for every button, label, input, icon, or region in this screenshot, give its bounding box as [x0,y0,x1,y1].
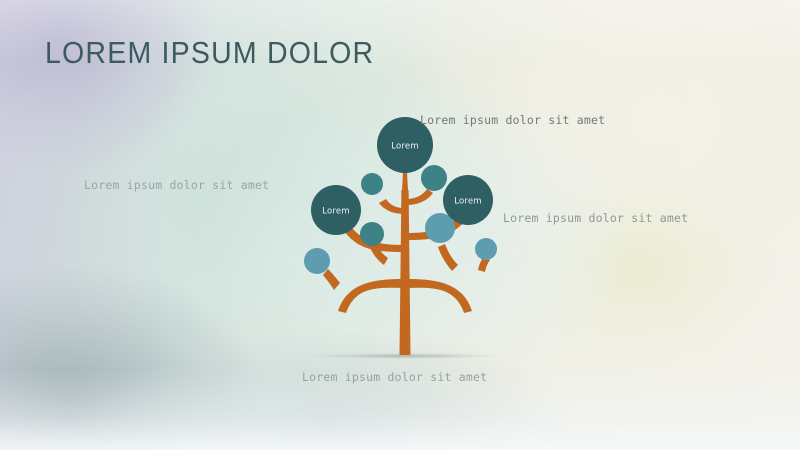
twig-leaf-4 [323,269,340,290]
leaf-circle-6 [475,238,497,260]
callout-label-top: Lorem ipsum dolor sit amet [420,113,605,127]
leaf-circle-4 [304,248,330,274]
twig-leaf-1 [379,199,404,214]
tree-trunk [400,190,411,355]
callout-label-bottom: Lorem ipsum dolor sit amet [302,370,487,384]
leaf-circle-3 [360,222,384,246]
leaf-circle-1 [361,173,383,195]
callout-label-right: Lorem ipsum dolor sit amet [503,211,688,225]
node-top-label: Lorem [391,142,419,152]
branch-lower-left [338,279,403,313]
slide-canvas: LOREM IPSUM DOLOR [0,0,800,450]
twig-leaf-2 [406,189,433,205]
branch-lower-right [407,279,472,313]
node-right-label: Lorem [454,197,482,207]
twig-trunk-top [402,172,408,190]
twig-leaf-5 [438,244,458,271]
leaf-circle-2 [421,165,447,191]
tree-node-left[interactable]: Lorem [311,185,361,235]
callout-label-left: Lorem ipsum dolor sit amet [84,178,269,192]
node-left-label: Lorem [322,207,350,217]
tree-node-right[interactable]: Lorem [443,175,493,225]
